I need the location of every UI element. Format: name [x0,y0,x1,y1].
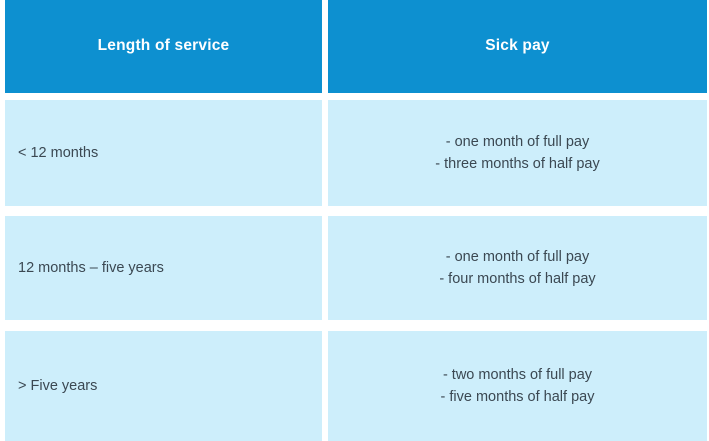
sick-pay-line: - one month of full pay [435,131,599,153]
table-cell-length-of-service: 12 months – five years [5,216,322,320]
table-header-label-sick-pay: Sick pay [485,37,550,56]
length-of-service-value: 12 months – five years [18,257,164,279]
sick-pay-line: - four months of half pay [439,268,595,290]
table-cell-sick-pay: - two months of full pay - five months o… [328,331,707,441]
sick-pay-value: - two months of full pay - five months o… [441,364,595,409]
table-row: < 12 months - one month of full pay - th… [5,100,707,206]
length-of-service-value: < 12 months [18,142,98,164]
length-of-service-value: > Five years [18,375,97,397]
sick-pay-line: - five months of half pay [441,386,595,408]
table-header-row: Length of service Sick pay [5,0,707,93]
table-header-cell-length-of-service: Length of service [5,0,322,93]
table-header-label-length-of-service: Length of service [98,37,230,56]
sick-pay-line: - one month of full pay [439,246,595,268]
sick-pay-line: - three months of half pay [435,153,599,175]
table-row: > Five years - two months of full pay - … [5,331,707,441]
sick-pay-value: - one month of full pay - four months of… [439,246,595,291]
table-cell-sick-pay: - one month of full pay - three months o… [328,100,707,206]
sick-pay-table: Length of service Sick pay < 12 months -… [0,0,709,441]
sick-pay-line: - two months of full pay [441,364,595,386]
table-cell-sick-pay: - one month of full pay - four months of… [328,216,707,320]
table-cell-length-of-service: < 12 months [5,100,322,206]
sick-pay-value: - one month of full pay - three months o… [435,131,599,176]
table-header-cell-sick-pay: Sick pay [328,0,707,93]
table-row: 12 months – five years - one month of fu… [5,216,707,320]
table-cell-length-of-service: > Five years [5,331,322,441]
